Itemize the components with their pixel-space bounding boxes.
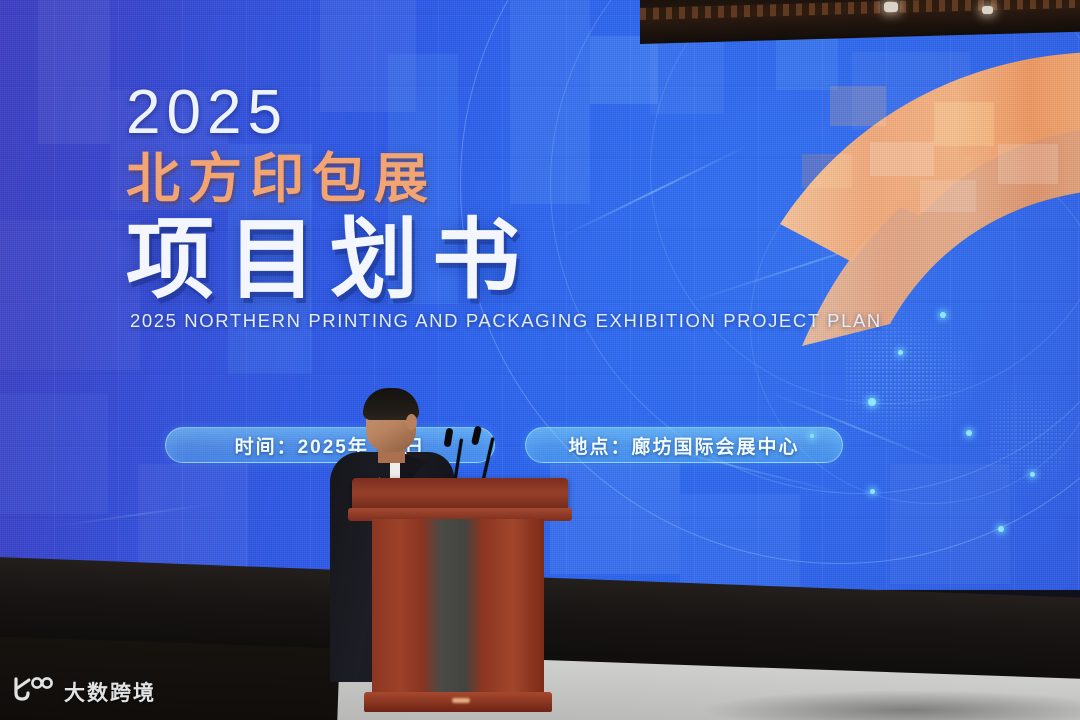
glow-dot xyxy=(1030,472,1035,477)
tech-dotgrid-far xyxy=(990,384,1080,494)
arc-pixel-block xyxy=(934,102,994,146)
glow-dot xyxy=(898,350,903,355)
glow-dot xyxy=(966,430,972,436)
light-streak xyxy=(51,502,220,528)
led-tile xyxy=(680,494,800,590)
speaker-ear xyxy=(406,414,417,430)
arc-pixel-block xyxy=(998,144,1058,184)
led-tile xyxy=(890,464,1010,584)
headline-exhibition: 北方印包展 xyxy=(126,150,882,208)
watermark-text: 大数跨境 xyxy=(64,677,156,707)
podium-top xyxy=(352,478,568,512)
led-tile xyxy=(0,220,140,370)
backdrop-headline: 2025 北方印包展 项目划书 2025 NORTHERN PRINTING A… xyxy=(126,82,882,332)
podium-body xyxy=(372,519,544,703)
glow-dot xyxy=(940,312,946,318)
conference-stage-photo: 2025 北方印包展 项目划书 2025 NORTHERN PRINTING A… xyxy=(0,0,1080,720)
podium-highlight xyxy=(452,698,470,703)
headline-year: 2025 xyxy=(126,82,882,144)
glow-dot xyxy=(998,526,1004,532)
watermark: 大数跨境 xyxy=(10,676,156,707)
arc-pixel-block xyxy=(920,180,976,212)
headline-main-title: 项目划书 xyxy=(126,212,882,308)
glow-dot xyxy=(868,398,876,406)
headline-english: 2025 NORTHERN PRINTING AND PACKAGING EXH… xyxy=(130,310,882,332)
ceiling-spotlight xyxy=(982,6,993,14)
led-tile xyxy=(0,394,108,514)
info-pill-place: 地点：廊坊国际会展中心 xyxy=(525,427,843,463)
kuajing-logo-icon xyxy=(10,676,56,707)
glow-dot xyxy=(870,489,875,494)
ceiling-spotlight xyxy=(884,2,898,12)
led-tile xyxy=(38,0,110,144)
